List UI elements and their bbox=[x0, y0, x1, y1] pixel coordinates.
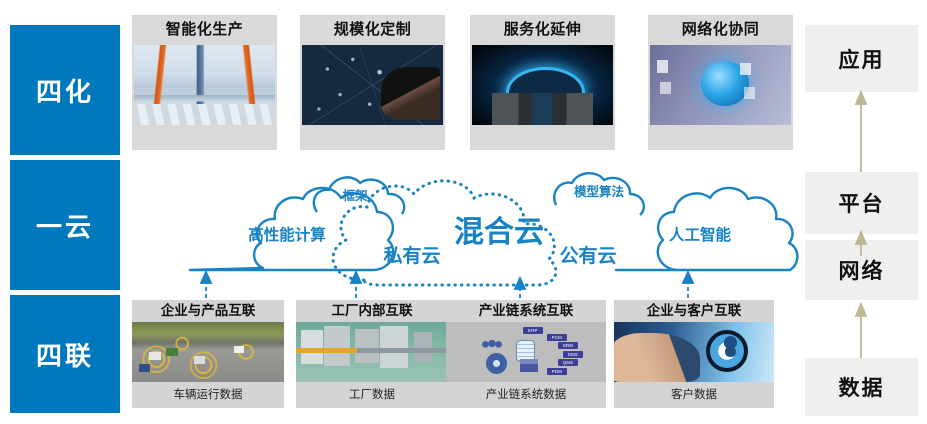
category-box-sihua: 四化 bbox=[10, 25, 120, 155]
stack-box-application: 应用 bbox=[805, 25, 918, 92]
bottom-card-caption: 企业与客户互联 bbox=[614, 300, 774, 322]
cloud-satellite-label-hpc: 高性能计算 bbox=[248, 225, 326, 244]
top-card-scaled-customization: 规模化定制 bbox=[300, 15, 445, 150]
bottom-card-enterprise-product: 企业与产品互联 车辆运行数据 bbox=[132, 300, 284, 408]
stack-box-data: 数据 bbox=[805, 358, 918, 416]
top-card-intelligent-production: 智能化生产 bbox=[132, 15, 277, 150]
cloud-zone-label-public: 公有云 bbox=[559, 244, 616, 267]
cloud-shape-hpc bbox=[190, 188, 393, 270]
bottom-card-supply-chain: 产业链系统互联 ERP PCM SRM DMS QMS PDM 产业链系统数据 bbox=[446, 300, 606, 408]
chip-pdm: PDM bbox=[547, 368, 567, 375]
stack-box-platform: 平台 bbox=[805, 172, 918, 234]
bottom-card-caption: 工厂内部互联 bbox=[296, 300, 448, 322]
cloud-satellite-label-ai: 人工智能 bbox=[669, 225, 732, 244]
chip-dms: DMS bbox=[563, 351, 583, 358]
category-box-yiyun: 一云 bbox=[10, 160, 120, 290]
cloud-shape-ai bbox=[616, 188, 797, 270]
chip-label: QMS bbox=[558, 359, 578, 366]
businessman-cloud-photo bbox=[472, 45, 613, 125]
bottom-card-subtitle: 工厂数据 bbox=[296, 382, 448, 408]
bottom-card-factory-internal: 工厂内部互联 工厂数据 bbox=[296, 300, 448, 408]
category-label: 四联 bbox=[36, 336, 94, 373]
hand-globe-collaboration-photo bbox=[650, 45, 791, 125]
bottom-card-caption: 企业与产品互联 bbox=[132, 300, 284, 322]
category-box-silian: 四联 bbox=[10, 295, 120, 413]
chip-pcm: PCM bbox=[547, 334, 567, 341]
hand-shape bbox=[614, 333, 700, 382]
stack-label: 应用 bbox=[839, 44, 885, 74]
network-nodes-phone-photo bbox=[302, 45, 443, 125]
bottom-card-subtitle: 产业链系统数据 bbox=[446, 382, 606, 408]
chip-qms: QMS bbox=[558, 359, 578, 366]
package-icon bbox=[520, 359, 538, 372]
chip-label: PDM bbox=[547, 368, 567, 375]
bottom-card-subtitle: 客户数据 bbox=[614, 382, 774, 408]
top-card-service-extension: 服务化延伸 bbox=[470, 15, 615, 150]
top-card-networked-collaboration: 网络化协同 bbox=[648, 15, 793, 150]
erp-systems-diagram: ERP PCM SRM DMS QMS PDM bbox=[446, 322, 606, 382]
stack-label: 数据 bbox=[839, 372, 885, 402]
chip-label: DMS bbox=[563, 351, 583, 358]
top-card-caption: 智能化生产 bbox=[132, 15, 277, 45]
magnifier-customer-photo bbox=[614, 322, 774, 382]
chip-srm: SRM bbox=[558, 342, 578, 349]
cloud-feed-arrows bbox=[201, 272, 693, 298]
top-card-caption: 规模化定制 bbox=[300, 15, 445, 45]
bottom-card-caption: 产业链系统互联 bbox=[446, 300, 606, 322]
chip-label: SRM bbox=[558, 342, 578, 349]
cloud-satellite-label-framework: 框架 bbox=[342, 188, 368, 203]
factory-robots-photo bbox=[134, 45, 275, 125]
people-icon bbox=[481, 340, 503, 351]
cloud-center-label-hybrid: 混合云 bbox=[454, 215, 544, 249]
stack-box-network: 网络 bbox=[805, 240, 918, 300]
category-label: 一云 bbox=[36, 207, 94, 244]
cloud-shape-framework bbox=[314, 177, 404, 214]
cloud-shape-model-algorithm bbox=[554, 173, 644, 215]
stack-label: 网络 bbox=[839, 255, 885, 285]
stack-label: 平台 bbox=[839, 188, 885, 218]
chip-label: PCM bbox=[547, 334, 567, 341]
cloud-satellite-label-model-algorithm: 模型算法 bbox=[574, 184, 625, 199]
cloud-zone-label-private: 私有云 bbox=[383, 244, 440, 267]
top-card-caption: 网络化协同 bbox=[648, 15, 793, 45]
cloud-shape-hybrid-dotted bbox=[333, 181, 556, 285]
bottom-card-subtitle: 车辆运行数据 bbox=[132, 382, 284, 408]
production-line-photo bbox=[296, 322, 448, 382]
category-label: 四化 bbox=[36, 72, 94, 109]
chip-label: ERP bbox=[523, 327, 543, 334]
gear-icon bbox=[488, 355, 505, 372]
top-card-caption: 服务化延伸 bbox=[470, 15, 615, 45]
bottom-card-enterprise-customer: 企业与客户互联 客户数据 bbox=[614, 300, 774, 408]
connected-vehicles-road-photo bbox=[132, 322, 284, 382]
chip-erp: ERP bbox=[523, 327, 543, 334]
